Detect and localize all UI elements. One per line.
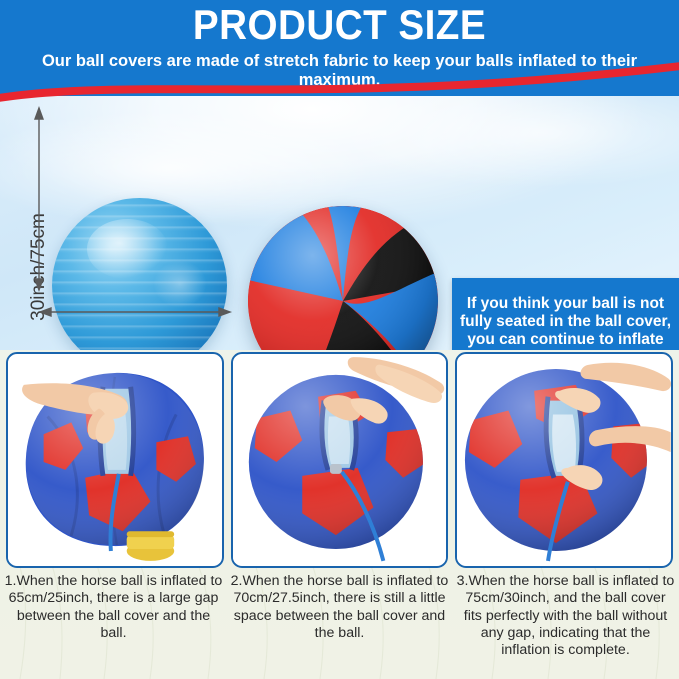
step-photo-1 xyxy=(6,352,224,568)
inflate-tip-text: If you think your ball is not fully seat… xyxy=(452,295,679,349)
vertical-dimension-label: 30inch/75cm xyxy=(28,182,50,350)
ball-cover-partially-inflated-photo xyxy=(233,354,447,566)
inflate-tip-callout: If you think your ball is not fully seat… xyxy=(452,278,679,350)
page-title: PRODUCT SIZE xyxy=(27,2,652,48)
step-photos-row xyxy=(0,352,679,568)
exercise-ball-highlight xyxy=(87,219,168,279)
ball-cover-fully-inflated-photo xyxy=(457,354,671,566)
product-size-infographic: PRODUCT SIZE Our ball covers are made of… xyxy=(0,0,679,679)
step-caption-3: 3.When the horse ball is inflated to 75c… xyxy=(456,572,675,679)
header-banner: PRODUCT SIZE Our ball covers are made of… xyxy=(0,0,679,96)
step-photo-3 xyxy=(455,352,673,568)
step-captions-row: 1.When the horse ball is inflated to 65c… xyxy=(0,572,679,679)
size-comparison-section: 30inch/75cm 30inch/75cm If you think you… xyxy=(0,88,679,350)
step-caption-1: 1.When the horse ball is inflated to 65c… xyxy=(4,572,223,679)
step-caption-2: 2.When the horse ball is inflated to 70c… xyxy=(230,572,449,679)
exercise-ball-icon xyxy=(52,198,227,350)
exercise-ball-highlight-secondary xyxy=(154,261,207,307)
header-subtitle: Our ball covers are made of stretch fabr… xyxy=(28,52,651,90)
step-photo-2 xyxy=(231,352,449,568)
ball-cover-loose-with-pump-photo xyxy=(8,354,222,566)
cloud-decoration-right xyxy=(330,88,679,188)
